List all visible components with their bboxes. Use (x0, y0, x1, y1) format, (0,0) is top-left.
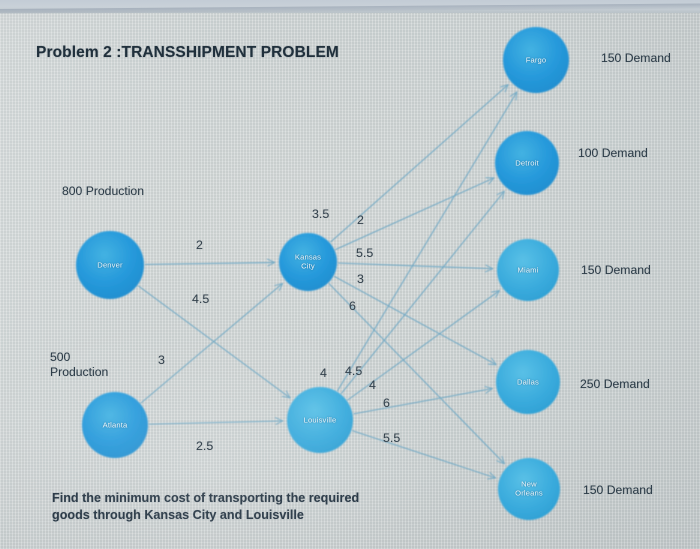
annotation-line: 150 Demand (581, 263, 651, 277)
cost-label-louisville-to-miami: 4 (369, 378, 376, 392)
demand-label-new_orleans: 150 Demand (583, 483, 653, 497)
cost-label-denver-to-kansas_city: 2 (196, 238, 203, 252)
node-louisville[interactable] (287, 387, 353, 453)
edge-atlanta-to-kansas_city (141, 284, 282, 403)
cost-label-kansas_city-to-new_orleans: 6 (349, 299, 356, 313)
edge-atlanta-to-louisville (149, 421, 282, 424)
supply-label-atlanta: 500Production (50, 350, 108, 380)
cost-label-denver-to-louisville: 4.5 (192, 292, 209, 306)
demand-label-detroit: 100 Demand (578, 146, 648, 160)
cost-label-atlanta-to-kansas_city: 3 (158, 353, 165, 367)
demand-label-dallas: 250 Demand (580, 377, 650, 391)
annotation-line: 150 Demand (601, 51, 671, 65)
cost-label-louisville-to-fargo: 4 (320, 366, 327, 380)
problem-instruction: Find the minimum cost of transporting th… (52, 490, 359, 524)
cost-label-kansas_city-to-fargo: 3.5 (312, 207, 329, 221)
annotation-line: 500 (50, 350, 108, 365)
node-layer (76, 27, 569, 520)
node-denver[interactable] (76, 231, 144, 299)
annotation-line: 250 Demand (580, 377, 650, 391)
cost-label-kansas_city-to-dallas: 3 (357, 272, 364, 286)
node-kansas_city[interactable] (279, 233, 337, 291)
annotation-line: Production (50, 365, 108, 380)
node-dallas[interactable] (496, 350, 560, 414)
annotation-line: 100 Demand (578, 146, 648, 160)
node-fargo[interactable] (503, 27, 569, 93)
edge-denver-to-kansas_city (145, 263, 274, 265)
cost-label-louisville-to-dallas: 6 (383, 396, 390, 410)
annotation-line: 800 Production (62, 184, 144, 199)
page-title: Problem 2 :TRANSSHIPMENT PROBLEM (36, 44, 339, 62)
cost-label-kansas_city-to-detroit: 2 (357, 213, 364, 227)
cost-label-louisville-to-detroit: 4.5 (345, 364, 362, 378)
node-miami[interactable] (497, 239, 559, 301)
cost-label-louisville-to-new_orleans: 5.5 (383, 431, 400, 445)
edge-louisville-to-fargo (338, 92, 517, 390)
node-detroit[interactable] (495, 131, 559, 195)
instruction-line: goods through Kansas City and Louisville (52, 507, 359, 524)
edge-louisville-to-detroit (342, 191, 504, 393)
annotation-line: 150 Demand (583, 483, 653, 497)
demand-label-fargo: 150 Demand (601, 51, 671, 65)
supply-label-denver: 800 Production (62, 184, 144, 199)
cost-label-atlanta-to-louisville: 2.5 (196, 439, 213, 453)
edge-louisville-to-new_orleans (353, 431, 496, 478)
edge-kansas_city-to-miami (338, 263, 492, 269)
cost-label-kansas_city-to-miami: 5.5 (356, 246, 373, 260)
edge-louisville-to-dallas (354, 389, 492, 414)
transshipment-diagram-page: DenverAtlantaKansasCityLouisvilleFargoDe… (0, 0, 700, 549)
instruction-line: Find the minimum cost of transporting th… (52, 490, 359, 507)
demand-label-miami: 150 Demand (581, 263, 651, 277)
node-new_orleans[interactable] (498, 458, 560, 520)
node-atlanta[interactable] (82, 392, 148, 458)
